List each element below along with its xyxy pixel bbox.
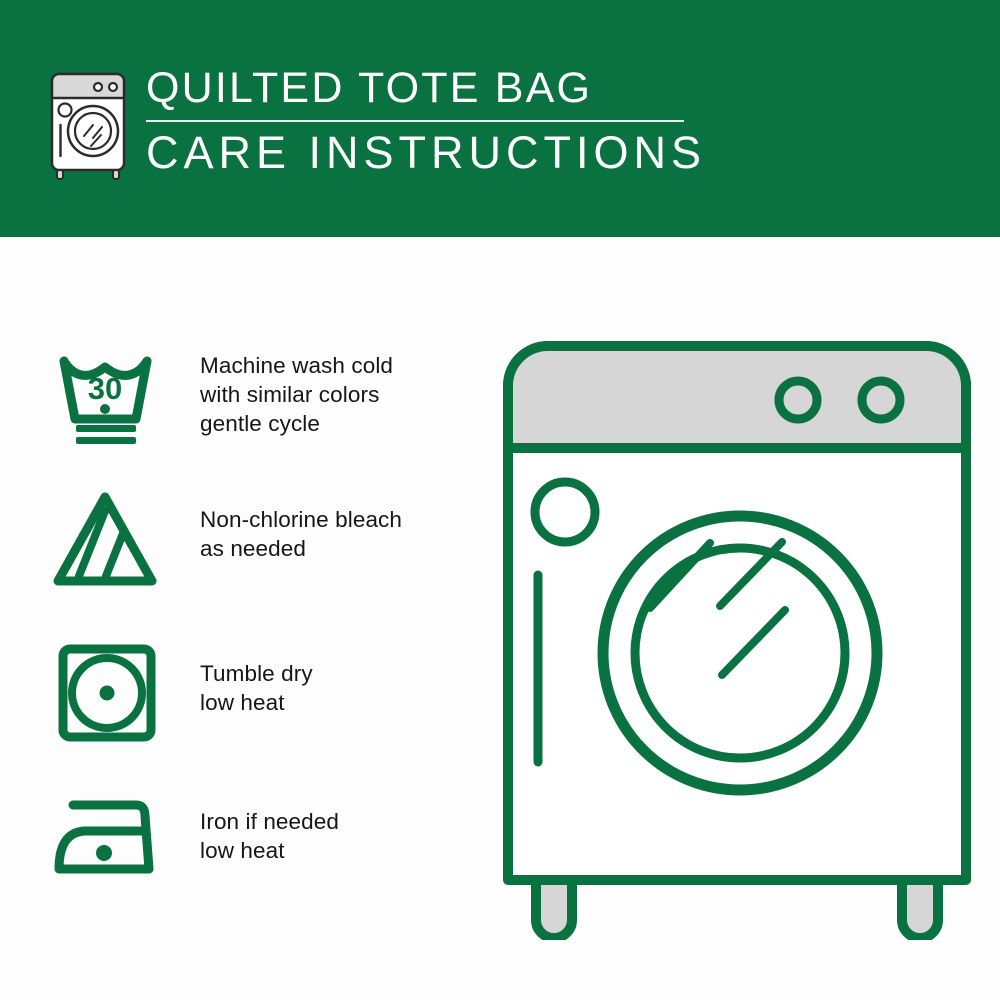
care-text-iron: Iron if needed low heat [200,785,339,865]
care-text-tumble-dry: Tumble dry low heat [200,637,313,717]
non-chlorine-bleach-triangle-icon [48,485,164,595]
wash-temperature-label: 30 [88,371,122,406]
care-row-tumble-dry: Tumble dry low heat [48,637,478,747]
foot-left [536,880,572,938]
page-title: QUILTED TOTE BAG [146,62,766,114]
title-divider [146,120,684,122]
washing-machine-illustration [492,330,982,940]
iron-low-heat-icon [48,785,164,895]
header-title-block: QUILTED TOTE BAG CARE INSTRUCTIONS [146,62,766,180]
care-row-bleach: Non-chlorine bleach as needed [48,485,478,595]
care-text-wash: Machine wash cold with similar colors ge… [200,337,393,438]
wash-tub-30-gentle-icon: 30 [48,337,164,447]
care-instruction-list: 30 Machine wash cold with similar colors… [0,237,500,1000]
header-banner: QUILTED TOTE BAG CARE INSTRUCTIONS [0,0,1000,237]
foot-right [902,880,938,938]
care-row-wash: 30 Machine wash cold with similar colors… [48,337,478,447]
washing-machine-icon [43,68,141,180]
care-row-iron: Iron if needed low heat [48,785,478,895]
indicator-light [535,482,595,542]
care-instructions-infographic: QUILTED TOTE BAG CARE INSTRUCTIONS 30 Ma… [0,0,1000,1000]
tumble-dry-low-heat-icon [48,637,164,747]
page-subtitle: CARE INSTRUCTIONS [146,126,766,180]
care-text-bleach: Non-chlorine bleach as needed [200,485,402,563]
